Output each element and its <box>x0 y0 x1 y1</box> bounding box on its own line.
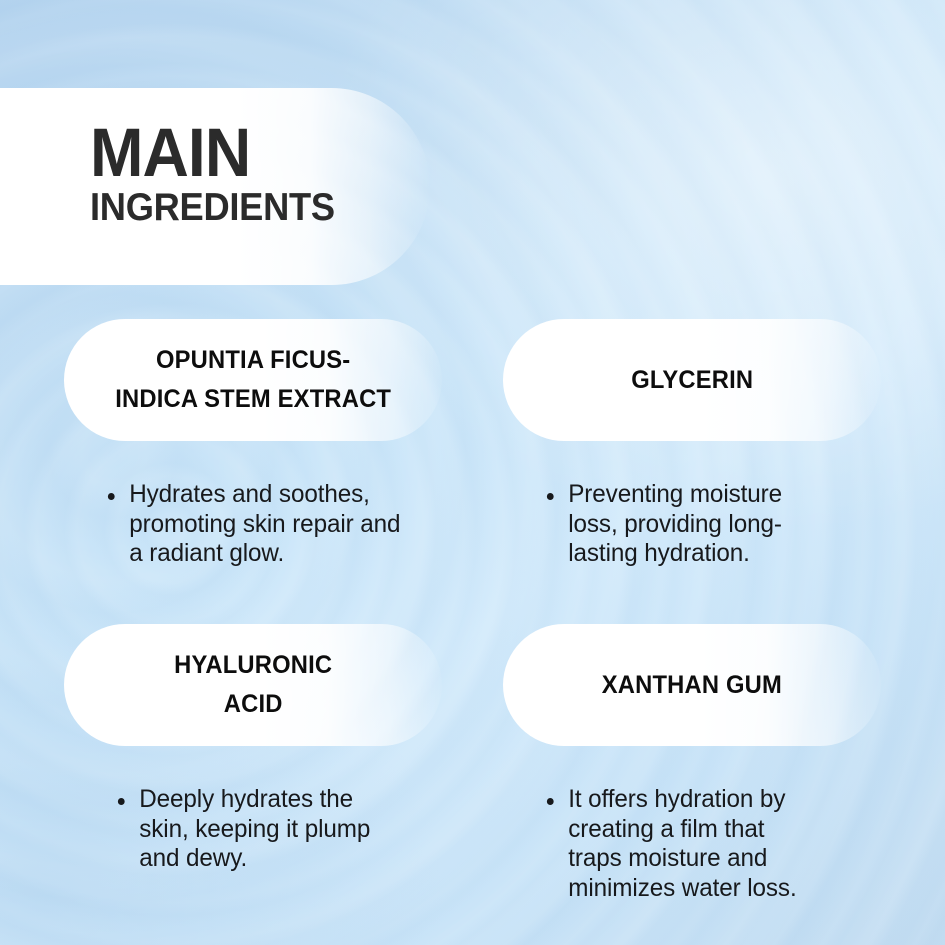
ingredient-pill-hyaluronic-acid[interactable]: HYALURONIC ACID <box>64 624 442 746</box>
list-item: Preventing moisture loss, providing long… <box>543 480 863 569</box>
page-title: MAIN INGREDIENTS <box>90 122 353 229</box>
title-sub-line: INGREDIENTS <box>90 188 335 229</box>
ingredient-name-label: GLYCERIN <box>602 361 781 400</box>
ingredient-description-glycerin: Preventing moisture loss, providing long… <box>543 480 873 569</box>
ingredient-description-hyaluronic-acid: Deeply hydrates the skin, keeping it plu… <box>114 785 464 874</box>
ingredient-name-label: HYALURONIC ACID <box>145 646 360 724</box>
ingredient-description-xanthan-gum: It offers hydration by creating a film t… <box>543 785 893 903</box>
list-item: Hydrates and soothes, promoting skin rep… <box>104 480 453 569</box>
bullet-list: Preventing moisture loss, providing long… <box>543 480 873 569</box>
ingredient-name-label: XANTHAN GUM <box>573 666 810 705</box>
ingredient-description-opuntia: Hydrates and soothes, promoting skin rep… <box>104 480 464 569</box>
bullet-list: Deeply hydrates the skin, keeping it plu… <box>114 785 464 874</box>
bullet-list: Hydrates and soothes, promoting skin rep… <box>104 480 464 569</box>
list-item: Deeply hydrates the skin, keeping it plu… <box>114 785 454 874</box>
ingredient-pill-xanthan-gum[interactable]: XANTHAN GUM <box>503 624 881 746</box>
title-main-line: MAIN <box>90 122 335 184</box>
ingredient-name-label: OPUNTIA FICUS- INDICA STEM EXTRACT <box>87 341 420 419</box>
ingredient-pill-glycerin[interactable]: GLYCERIN <box>503 319 881 441</box>
bullet-list: It offers hydration by creating a film t… <box>543 785 893 903</box>
ingredient-pill-opuntia[interactable]: OPUNTIA FICUS- INDICA STEM EXTRACT <box>64 319 442 441</box>
list-item: It offers hydration by creating a film t… <box>543 785 883 903</box>
